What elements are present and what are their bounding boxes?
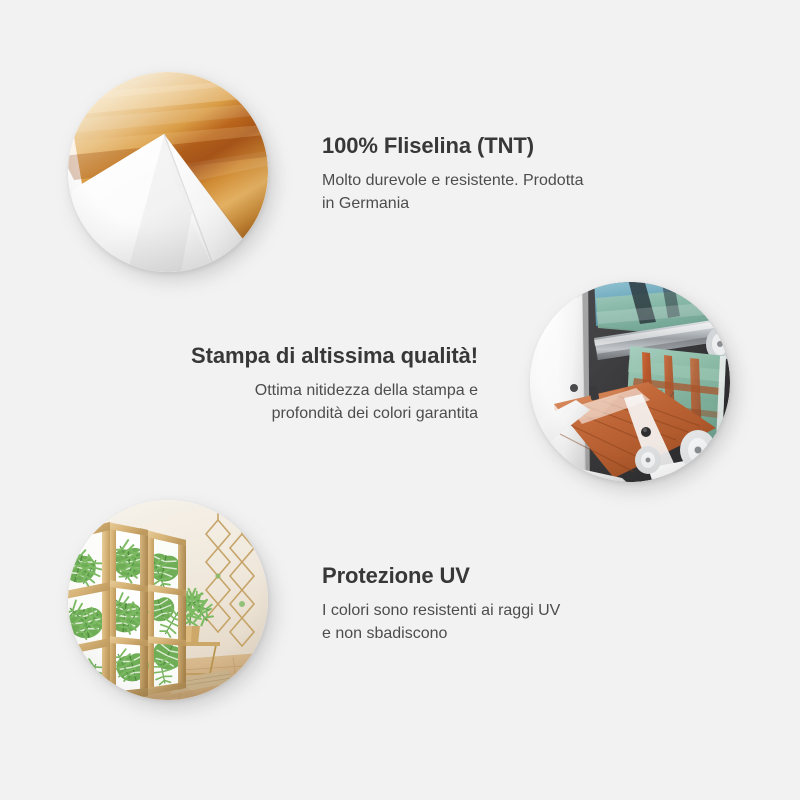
feature-text-fliselina: 100% Fliselina (TNT) Molto durevole e re… — [322, 132, 722, 215]
printer-illustration — [530, 282, 730, 482]
feature-description-line: e non sbadiscono — [322, 622, 722, 645]
tropical-leaf-room-divider-image — [68, 500, 268, 700]
peeling-wallpaper-corner-image — [68, 72, 268, 272]
feature-description: Ottima nitidezza della stampa e profondi… — [78, 379, 478, 425]
circle-frame — [530, 282, 730, 482]
feature-list-page: 100% Fliselina (TNT) Molto durevole e re… — [0, 0, 800, 800]
feature-text-stampa-qualita: Stampa di altissima qualità! Ottima niti… — [78, 342, 478, 425]
circle-frame — [68, 72, 268, 272]
feature-text-protezione-uv: Protezione UV I colori sono resistenti a… — [322, 562, 722, 645]
feature-description-line: Molto durevole e resistente. Prodotta — [322, 169, 722, 192]
feature-description-line: Ottima nitidezza della stampa e — [78, 379, 478, 402]
large-format-printer-image — [530, 282, 730, 482]
feature-title: 100% Fliselina (TNT) — [322, 132, 722, 160]
feature-description: I colori sono resistenti ai raggi UV e n… — [322, 599, 722, 645]
feature-description-line: in Germania — [322, 192, 722, 215]
feature-description-line: I colori sono resistenti ai raggi UV — [322, 599, 722, 622]
feature-title: Stampa di altissima qualità! — [78, 342, 478, 370]
room-divider-illustration — [68, 500, 268, 700]
feature-description: Molto durevole e resistente. Prodotta in… — [322, 169, 722, 215]
feature-title: Protezione UV — [322, 562, 722, 590]
circle-frame — [68, 500, 268, 700]
wallpaper-illustration — [68, 72, 268, 272]
feature-description-line: profondità dei colori garantita — [78, 402, 478, 425]
